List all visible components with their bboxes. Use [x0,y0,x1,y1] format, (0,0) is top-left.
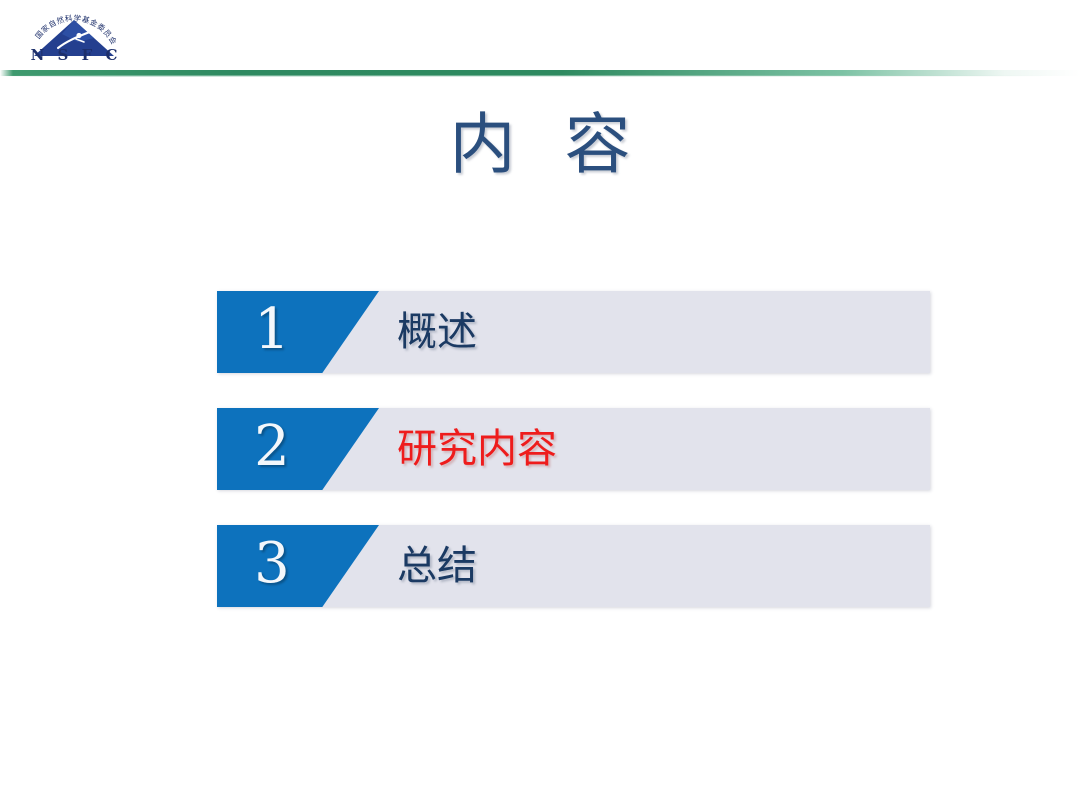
page-title: 内 容 [0,112,1080,178]
agenda-item-number: 1 [217,291,327,373]
agenda-item-3[interactable]: 3 总结 [217,525,930,607]
nsfc-logo: 国家自然科学基金委员会 N S F C [18,4,130,74]
agenda-item-label: 概述 [397,291,477,373]
agenda-list: 1 概述 2 研究内容 3 总结 [217,291,930,607]
agenda-item-2[interactable]: 2 研究内容 [217,408,930,490]
header-divider-rule [0,70,1080,76]
agenda-item-label: 总结 [397,525,477,607]
agenda-item-number: 3 [217,525,327,607]
agenda-item-label: 研究内容 [397,408,557,490]
slide: 国家自然科学基金委员会 N S F C 内 容 1 概述 [0,0,1080,810]
agenda-item-1[interactable]: 1 概述 [217,291,930,373]
slide-header: 国家自然科学基金委员会 N S F C [0,0,1080,86]
agenda-item-number: 2 [217,408,327,490]
nsfc-logo-acronym: N S F C [18,46,130,64]
